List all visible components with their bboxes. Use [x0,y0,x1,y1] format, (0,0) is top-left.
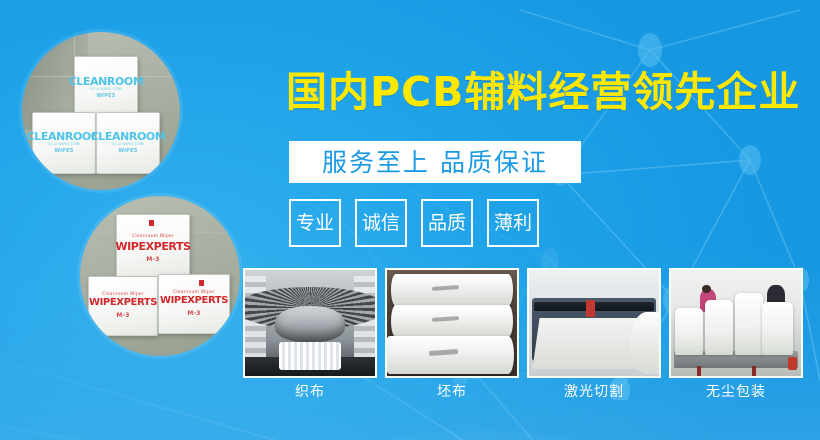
pack-subtext-2: WIPES [96,93,115,101]
product-pack: CLEANROOM U.S.A WIPES CORE WIPES [96,112,160,174]
product-pack: Cleanroom Wiper WIPEXPERTS M-3 [116,214,190,278]
cleanroom-wipes-circle: CLEANROOM U.S.A WIPES CORE WIPES CLEANRO… [22,32,180,190]
pack-subtext-2: M-3 [116,311,129,320]
process-thumbnail-greige-fabric[interactable]: 坯布 [385,268,519,399]
pack-brand-label: WIPEXPERTS [89,298,157,308]
pack-subtext-2: M-3 [187,309,200,318]
thumbnail-caption: 织布 [243,385,377,399]
process-thumbnail-cleanroom-packing[interactable]: 无尘包装 [669,268,803,399]
feature-tag-label: 品质 [428,214,466,233]
thumbnail-caption: 无尘包装 [669,385,803,399]
feature-tag-label: 专业 [296,214,334,233]
pack-subtext-1: U.S.A WIPES CORE [112,142,145,147]
laser-cutting-photo [527,268,661,378]
process-thumbnail-weaving[interactable]: 织布 [243,268,377,399]
feature-tag-low-margin[interactable]: 薄利 [487,199,539,247]
pack-subtext-2: WIPES [54,148,73,156]
product-pack: Cleanroom Wiper WIPEXPERTS M-3 [158,274,230,334]
pack-brand-label: CLEANROOM [91,131,166,142]
wipexperts-boxes-circle: Cleanroom Wiper WIPEXPERTS M-3 Cleanroom… [80,196,240,356]
pack-subtext-2: WIPES [118,148,137,156]
feature-tag-integrity[interactable]: 诚信 [355,199,407,247]
pack-brand-label: WIPEXPERTS [115,241,190,252]
fabric-rolls-photo [385,268,519,378]
feature-tag-label: 诚信 [362,214,400,233]
promo-banner: CLEANROOM U.S.A WIPES CORE WIPES CLEANRO… [0,0,820,440]
banner-headline: 国内PCB辅料经营领先企业 [286,72,800,113]
feature-tag-quality[interactable]: 品质 [421,199,473,247]
pack-brand-label: WIPEXPERTS [160,296,228,306]
process-thumbnail-laser-cutting[interactable]: 激光切割 [527,268,661,399]
feature-tag-group: 专业 诚信 品质 薄利 [289,199,539,247]
pack-subtext-1: U.S.A WIPES CORE [90,87,123,92]
thumbnail-caption: 激光切割 [527,385,661,399]
product-pack: Cleanroom Wiper WIPEXPERTS M-3 [88,276,158,336]
product-pack: CLEANROOM U.S.A WIPES CORE WIPES [32,112,96,174]
pack-subtext-1: U.S.A WIPES CORE [48,142,81,147]
pack-subtext-2: M-3 [146,255,159,264]
knitting-machine-photo [243,268,377,378]
subtitle-text: 服务至上 品质保证 [322,150,548,175]
subtitle-bar: 服务至上 品质保证 [289,141,581,183]
feature-tag-professional[interactable]: 专业 [289,199,341,247]
process-thumbnail-group: 织布 坯布 激光切割 [243,268,803,399]
thumbnail-caption: 坯布 [385,385,519,399]
cleanroom-packing-photo [669,268,803,378]
feature-tag-label: 薄利 [494,214,532,233]
pack-brand-label: CLEANROOM [69,76,144,87]
product-pack: CLEANROOM U.S.A WIPES CORE WIPES [74,56,138,120]
